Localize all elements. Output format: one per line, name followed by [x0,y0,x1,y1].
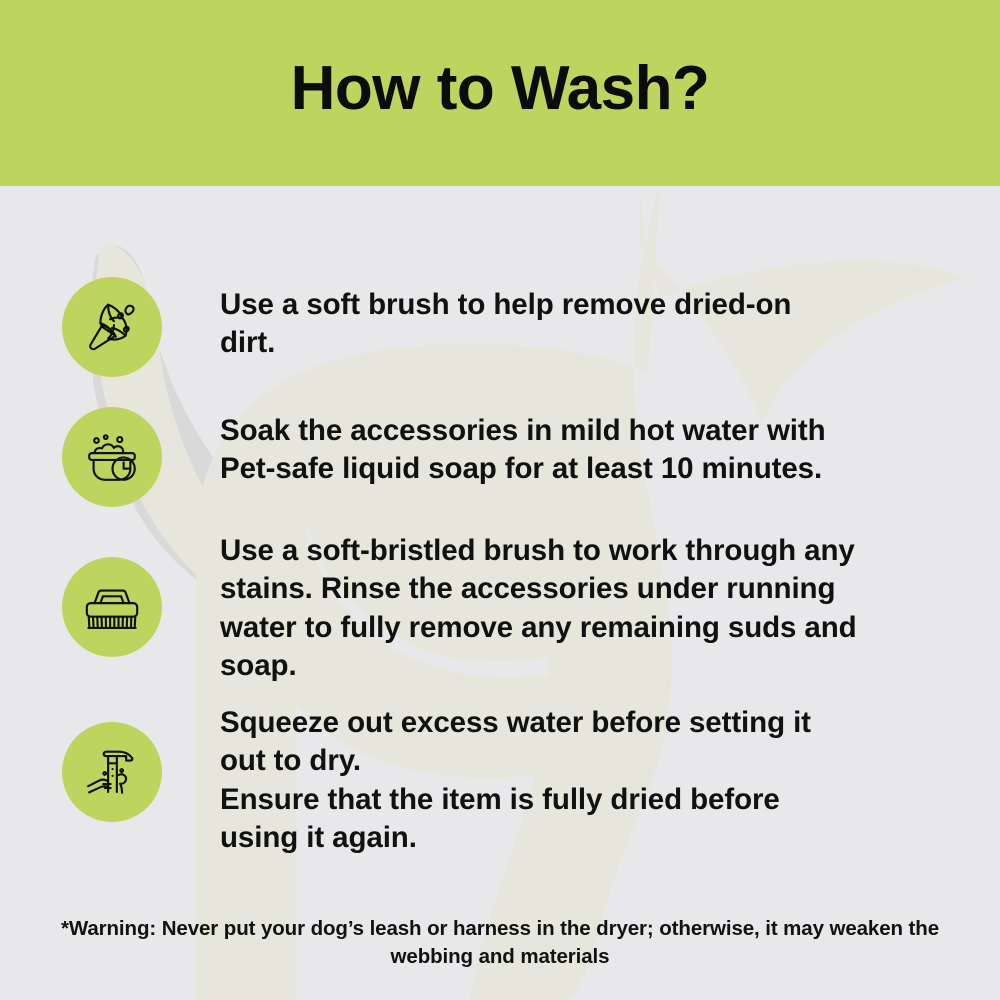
step-line: Soak the accessories in mild hot water w… [220,412,930,450]
step-line: out to dry. [220,742,930,780]
header-band: How to Wash? [0,0,1000,186]
warning-line: webbing and materials [391,945,610,968]
step-line: Pet-safe liquid soap for at least 10 min… [220,450,930,488]
step-line: Ensure that the item is fully dried befo… [220,781,930,819]
feather-duster-icon [62,277,162,377]
step-line: Use a soft-bristled brush to work throug… [220,532,930,570]
step-text-1: Use a soft brush to help remove dried-on… [220,286,930,363]
step-line: stains. Rinse the accessories under runn… [220,570,930,608]
page-title: How to Wash? [291,58,710,128]
step-line: dirt. [220,324,930,362]
step-text-3: Use a soft-bristled brush to work throug… [220,532,930,685]
hand-under-faucet-icon [62,722,162,822]
step-text-2: Soak the accessories in mild hot water w… [220,412,930,489]
warning-line: *Warning: Never put your dog’s leash or … [61,917,939,940]
wash-basin-timer-icon [62,407,162,507]
step-text-4: Squeeze out excess water before setting … [220,704,930,857]
step-line: water to fully remove any remaining suds… [220,609,930,647]
step-line: using it again. [220,819,930,857]
scrub-brush-icon [62,557,162,657]
step-line: Use a soft brush to help remove dried-on [220,286,930,324]
step-line: soap. [220,647,930,685]
step-line: Squeeze out excess water before setting … [220,704,930,742]
warning-note: *Warning: Never put your dog’s leash or … [0,915,1000,970]
how-to-wash-infographic: How to Wash? Use a sof [0,0,1000,1000]
